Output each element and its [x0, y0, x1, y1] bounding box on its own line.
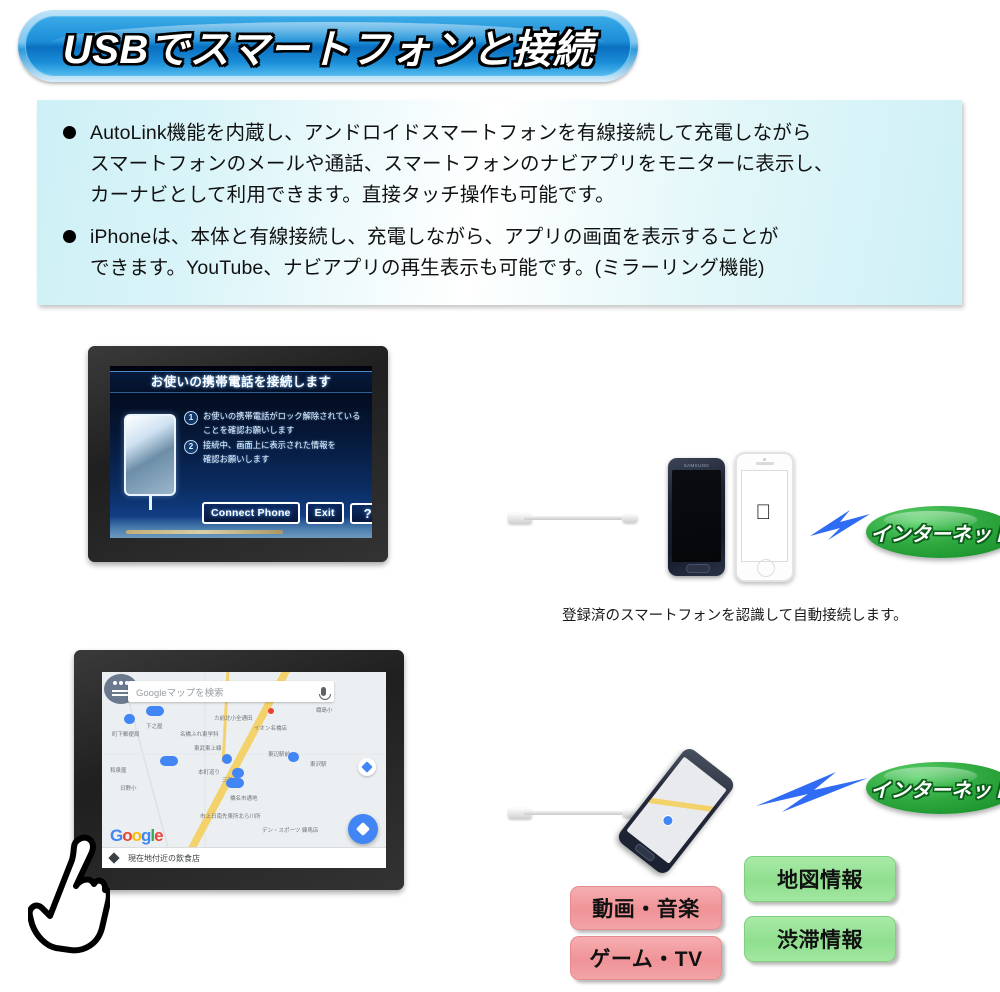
internet-bubble-top: インターネット — [866, 506, 1000, 558]
product-feature-page: USBでスマートフォンと接続 AutoLink機能を内蔵し、アンドロイドスマート… — [0, 0, 1000, 992]
iphone-screen:  — [741, 470, 788, 562]
menu-dot-icon — [119, 681, 123, 685]
help-button[interactable]: ? — [350, 503, 372, 524]
bullet-text-autolink: AutoLink機能を内蔵し、アンドロイドスマートフォンを有線接続して充電しなが… — [90, 118, 834, 211]
nearby-icon — [108, 852, 119, 863]
usb-plug-b-icon — [622, 514, 638, 523]
logo-letter: G — [110, 826, 122, 845]
banner-title: USBでスマートフォンと接続 — [63, 17, 593, 75]
menu-dot-icon — [113, 681, 117, 685]
map-bottom-bar[interactable]: 現在地付近の飲食店 — [102, 847, 386, 868]
map-label: 本町道り — [198, 768, 220, 776]
map-label: 橋名市通地 — [230, 794, 258, 802]
android-home-button-icon — [686, 564, 710, 573]
bullet-line: iPhoneは、本体と有線接続し、充電しながら、アプリの画面を表示することが — [90, 222, 779, 253]
bullet-dot-icon — [63, 126, 76, 139]
map-label: 市上日南先東所北ら川所 — [200, 812, 261, 820]
map-screen: 東小路こも橋先通店 通り 織島小 カ前北小全通田 イオン名橋店 名橋ふれ東学科 … — [102, 672, 386, 868]
map-search-input[interactable]: Googleマップを検索 — [128, 681, 334, 702]
map-poi-marker[interactable] — [160, 756, 178, 766]
step-text: 接続中、画面上に表示された情報を 確認お願いします — [203, 439, 336, 466]
microphone-icon[interactable] — [321, 687, 326, 696]
google-logo: Google — [110, 826, 163, 846]
map-bottom-bar-label: 現在地付近の飲食店 — [128, 853, 200, 864]
wireless-bolt-icon-top — [806, 500, 876, 550]
bullet-text-iphone: iPhoneは、本体と有線接続し、充電しながら、アプリの画面を表示することが で… — [90, 222, 779, 284]
connect-step: 1 お使いの携帯電話がロック解除されている ことを確認お願いします — [184, 410, 366, 437]
map-poi-marker[interactable] — [222, 754, 232, 764]
bullet-item-iphone: iPhoneは、本体と有線接続し、充電しながら、アプリの画面を表示することが で… — [63, 222, 948, 284]
step-line: お使いの携帯電話がロック解除されている — [203, 410, 360, 424]
map-label: 東辺駅前 — [268, 750, 290, 758]
bullet-line: できます。YouTube、ナビアプリの再生表示も可能です。(ミラーリング機能) — [90, 253, 779, 284]
feature-tag-map-info: 地図情報 — [744, 856, 896, 902]
hand-cursor-icon — [28, 832, 110, 954]
step-line: 接続中、画面上に表示された情報を — [203, 439, 336, 453]
internet-bubble-bottom: インターネット — [866, 762, 1000, 814]
bullet-item-autolink: AutoLink機能を内蔵し、アンドロイドスマートフォンを有線接続して充電しなが… — [63, 118, 948, 211]
description-panel: AutoLink機能を内蔵し、アンドロイドスマートフォンを有線接続して充電しなが… — [37, 100, 962, 305]
step-line: ことを確認お願いします — [203, 424, 360, 438]
connect-screen-buttons: Connect Phone Exit ? — [202, 502, 372, 524]
connect-screen: お使いの携帯電話を接続します 1 お使いの携帯電話がロック解除されている ことを… — [110, 366, 372, 538]
wireless-bolt-icon-bottom — [752, 756, 872, 816]
map-search-placeholder: Googleマップを検索 — [136, 685, 224, 699]
bullet-dot-icon — [63, 230, 76, 243]
map-label: イオン名橋店 — [254, 724, 287, 732]
map-poi-marker[interactable] — [226, 778, 244, 788]
map-label: 名橋ふれ東学科 — [180, 730, 219, 738]
map-pin-marker[interactable] — [268, 708, 274, 714]
connect-screen-title: お使いの携帯電話を接続します — [110, 371, 372, 393]
logo-letter: e — [154, 826, 162, 845]
feature-tag-video-music: 動画・音楽 — [570, 886, 722, 930]
map-label: 日野小 — [120, 784, 137, 792]
internet-label: インターネット — [870, 774, 1000, 803]
bullet-line: スマートフォンのメールや通話、スマートフォンのナビアプリをモニターに表示し、 — [90, 149, 834, 180]
header-banner: USBでスマートフォンと接続 — [18, 10, 638, 82]
map-label: 町下郵便局 — [112, 730, 140, 738]
iphone-home-button-icon — [757, 559, 775, 577]
usb-cable-bottom — [508, 808, 638, 818]
map-poi-marker[interactable] — [232, 768, 244, 778]
iphone-image:  — [735, 452, 794, 582]
samsung-brand-label: SAMSUNG — [668, 463, 725, 468]
logo-letter: o — [132, 826, 141, 845]
auto-connect-caption: 登録済のスマートフォンを認識して自動接続します。 — [562, 604, 908, 625]
map-poi-marker[interactable] — [124, 714, 135, 724]
map-label: 東沢駅 — [310, 760, 327, 768]
step-number-badge: 1 — [184, 411, 198, 425]
connect-steps-list: 1 お使いの携帯電話がロック解除されている ことを確認お願いします 2 接続中、… — [184, 410, 366, 468]
car-monitor-connect: お使いの携帯電話を接続します 1 お使いの携帯電話がロック解除されている ことを… — [88, 346, 388, 562]
bullet-line: カーナビとして利用できます。直接タッチ操作も可能です。 — [90, 180, 834, 211]
exit-button[interactable]: Exit — [306, 502, 344, 524]
cable-wire — [524, 811, 622, 815]
android-phone-screen — [672, 470, 721, 562]
banner-inner-pill: USBでスマートフォンと接続 — [25, 16, 631, 76]
map-poi-marker[interactable] — [288, 752, 299, 762]
feature-tag-game-tv: ゲーム・TV — [570, 936, 722, 980]
car-monitor-map: 東小路こも橋先通店 通り 織島小 カ前北小全通田 イオン名橋店 名橋ふれ東学科 … — [74, 650, 404, 890]
map-poi-marker[interactable] — [146, 706, 164, 716]
logo-letter: o — [122, 826, 131, 845]
hamburger-icon — [112, 690, 128, 692]
map-label: 東武東上線 — [194, 744, 222, 752]
iphone-speaker-icon — [756, 462, 774, 465]
logo-letter: g — [141, 826, 150, 845]
bullet-line: AutoLink機能を内蔵し、アンドロイドスマートフォンを有線接続して充電しなが… — [90, 118, 834, 149]
step-line: 確認お願いします — [203, 453, 336, 467]
connect-step: 2 接続中、画面上に表示された情報を 確認お願いします — [184, 439, 366, 466]
phone-illustration-icon — [124, 414, 176, 496]
internet-label: インターネット — [870, 518, 1000, 547]
step-number-badge: 2 — [184, 440, 198, 454]
map-label: 織島小 — [316, 706, 333, 714]
apple-logo-icon:  — [756, 502, 772, 523]
map-directions-button[interactable] — [348, 814, 378, 844]
android-phone-image: SAMSUNG — [668, 458, 725, 576]
iphone-camera-icon — [763, 458, 766, 461]
cable-wire — [524, 516, 622, 520]
step-text: お使いの携帯電話がロック解除されている ことを確認お願いします — [203, 410, 360, 437]
map-label: デン・スポーツ 練馬店 — [262, 826, 318, 834]
usb-cable-top — [508, 513, 638, 523]
map-label: カ前北小全通田 — [214, 714, 253, 722]
map-label: 下之屋 — [146, 722, 163, 730]
feature-tag-traffic-info: 渋滞情報 — [744, 916, 896, 962]
connect-phone-button[interactable]: Connect Phone — [202, 502, 300, 524]
map-label: 和泉屋 — [110, 766, 127, 774]
